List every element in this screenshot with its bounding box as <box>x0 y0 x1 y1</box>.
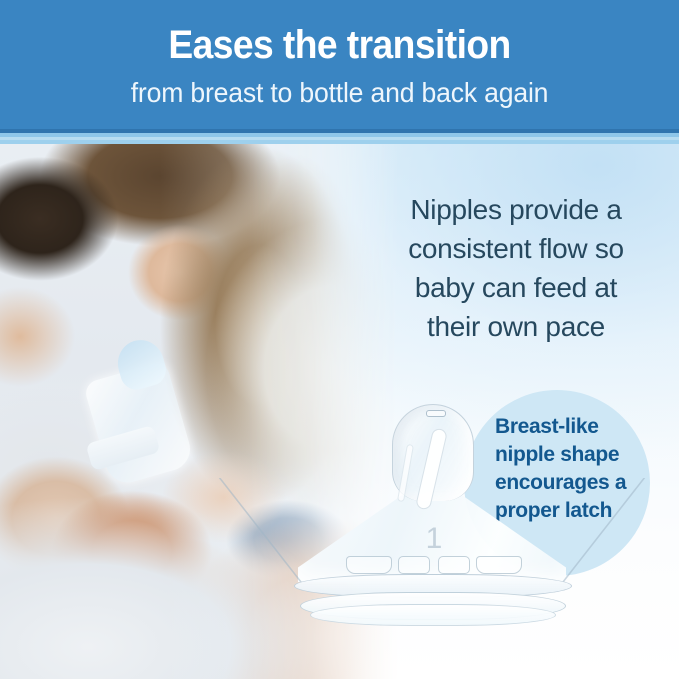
feature-paragraph-line-4: their own pace <box>366 307 666 346</box>
nipple-tip-slot <box>426 410 446 417</box>
nipple-valve-4 <box>476 556 522 574</box>
feature-paragraph-line-3: baby can feed at <box>366 268 666 307</box>
header-title: Eases the transition <box>24 22 655 68</box>
feature-paragraph-line-1: Nipples provide a <box>366 190 666 229</box>
header-subtitle: from breast to bottle and back again <box>17 76 662 110</box>
feature-paragraph: Nipples provide a consistent flow so bab… <box>366 190 666 346</box>
header-banner: Eases the transition from breast to bott… <box>0 0 679 133</box>
promo-image-root: Eases the transition from breast to bott… <box>0 0 679 679</box>
feature-paragraph-line-2: consistent flow so <box>366 229 666 268</box>
nipple-valve-1 <box>346 556 392 574</box>
nipple-valve-3 <box>438 556 470 574</box>
nipple-valve-2 <box>398 556 430 574</box>
product-nipple-image: 1 <box>292 404 572 636</box>
nipple-base-ring-3 <box>310 604 556 626</box>
nipple-flow-number: 1 <box>414 524 454 554</box>
